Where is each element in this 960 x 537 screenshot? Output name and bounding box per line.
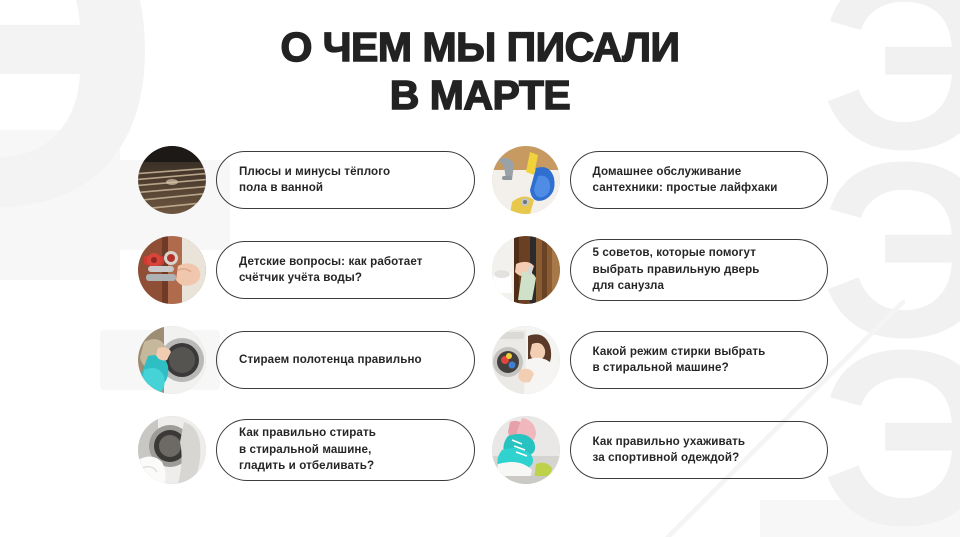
woman-loading-laundry-photo [492,326,560,394]
article-title: Какой режим стирки выбрать в стиральной … [593,344,766,377]
article-pill[interactable]: Домашнее обслуживание сантехники: просты… [570,151,829,209]
article-item-wash-towels[interactable]: Стираем полотенца правильно [138,326,475,394]
warm-floor-pipes-photo [138,146,206,214]
article-item-sportswear-care[interactable]: Как правильно ухаживать за спортивной од… [492,416,829,484]
water-meter-valve-photo [138,236,206,304]
article-item-plumbing-home-service[interactable]: Домашнее обслуживание сантехники: просты… [492,146,829,214]
article-title: Детские вопросы: как работает счётчик уч… [239,254,423,287]
watermark-letter-right-2: Э [821,152,960,347]
article-pill[interactable]: Как правильно ухаживать за спортивной од… [570,421,829,479]
article-row: Как правильно стирать в стиральной машин… [138,416,828,484]
article-title: Как правильно стирать в стиральной машин… [239,425,376,474]
article-title: Как правильно ухаживать за спортивной од… [593,434,746,467]
article-pill[interactable]: Какой режим стирки выбрать в стиральной … [570,331,829,389]
article-title: Стираем полотенца правильно [239,352,422,368]
watermark-letter-right-3: Э [821,340,960,535]
article-pill[interactable]: Плюсы и минусы тёплого пола в ванной [216,151,475,209]
article-item-warm-floor-bathroom[interactable]: Плюсы и минусы тёплого пола в ванной [138,146,475,214]
title-line-1: О ЧЕМ МЫ ПИСАЛИ [0,24,960,72]
poster-root: Э Э Э Э О ЧЕМ МЫ ПИСАЛИ В МАРТЕ [0,0,960,537]
article-pill[interactable]: Стираем полотенца правильно [216,331,475,389]
sink-cleaning-photo [492,146,560,214]
article-pill[interactable]: Детские вопросы: как работает счётчик уч… [216,241,475,299]
article-item-bathroom-door-tips[interactable]: 5 советов, которые помогут выбрать прави… [492,236,829,304]
article-pill[interactable]: 5 советов, которые помогут выбрать прави… [570,239,829,301]
sport-sneakers-photo [492,416,560,484]
bathroom-door-photo [492,236,560,304]
article-item-water-meter-kids[interactable]: Детские вопросы: как работает счётчик уч… [138,236,475,304]
article-row: Стираем полотенца правильно [138,326,828,394]
article-pill[interactable]: Как правильно стирать в стиральной машин… [216,419,475,481]
towel-washing-machine-photo [138,326,206,394]
poster-title: О ЧЕМ МЫ ПИСАЛИ В МАРТЕ [0,24,960,119]
article-title: 5 советов, которые помогут выбрать прави… [593,245,760,294]
decor-panel-bottom-right [760,500,960,537]
article-item-wash-iron-bleach[interactable]: Как правильно стирать в стиральной машин… [138,416,475,484]
title-line-2: В МАРТЕ [0,72,960,120]
decor-panel-left-upper [0,130,120,280]
article-item-wash-mode-choice[interactable]: Какой режим стирки выбрать в стиральной … [492,326,829,394]
article-grid: Плюсы и минусы тёплого пола в ванной [138,146,828,484]
article-row: Плюсы и минусы тёплого пола в ванной [138,146,828,214]
article-row: Детские вопросы: как работает счётчик уч… [138,236,828,304]
white-laundry-machine-photo [138,416,206,484]
article-title: Домашнее обслуживание сантехники: просты… [593,164,778,197]
article-title: Плюсы и минусы тёплого пола в ванной [239,164,390,197]
